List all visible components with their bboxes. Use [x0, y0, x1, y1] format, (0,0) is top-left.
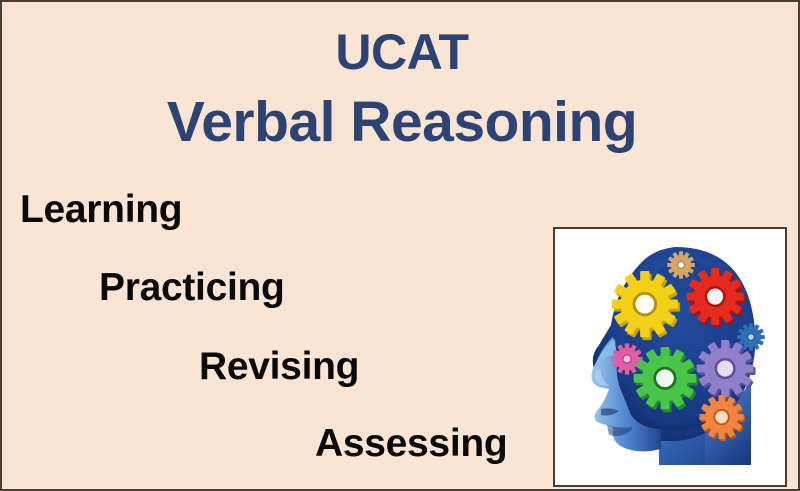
page-subtitle: Verbal Reasoning — [2, 90, 800, 154]
step-word-assessing: Assessing — [315, 422, 507, 466]
title-block: UCAT Verbal Reasoning — [2, 24, 800, 154]
brain-gears-illustration — [553, 227, 787, 487]
step-word-learning: Learning — [20, 188, 182, 232]
slide-canvas: UCAT Verbal Reasoning Learning Practicin… — [0, 0, 800, 491]
brain-gears-svg — [555, 229, 785, 485]
page-title: UCAT — [2, 24, 800, 80]
step-word-revising: Revising — [199, 345, 359, 389]
step-word-practicing: Practicing — [99, 266, 285, 310]
